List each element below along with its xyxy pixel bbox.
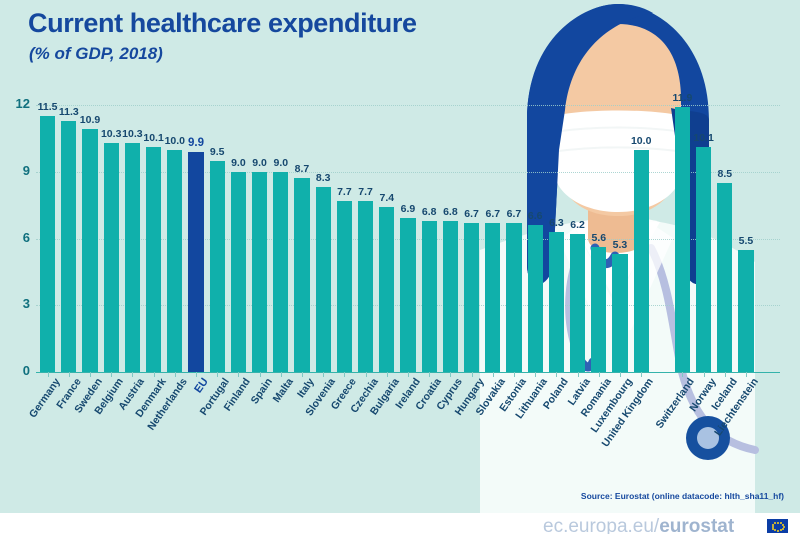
x-axis-tick <box>154 372 155 377</box>
bar-value-label: 6.3 <box>549 217 564 229</box>
bar-value-label: 8.3 <box>316 172 331 184</box>
x-axis-tick <box>344 372 345 377</box>
page-subtitle: (% of GDP, 2018) <box>29 44 163 64</box>
x-axis-tick <box>514 372 515 377</box>
bar: 9.0 <box>273 172 288 372</box>
x-axis-tick <box>746 372 747 377</box>
bar-value-label: 7.7 <box>358 186 373 198</box>
bar-value-label: 6.8 <box>422 206 437 218</box>
eu-flag-star <box>772 526 774 528</box>
x-axis-tick <box>260 372 261 377</box>
bar: 7.4 <box>379 207 394 372</box>
eu-flag-star <box>772 528 774 530</box>
bar-value-label: 8.7 <box>295 163 310 175</box>
x-axis-tick <box>132 372 133 377</box>
bar-value-label: 9.9 <box>188 137 204 149</box>
bar-value-label: 5.5 <box>739 235 754 247</box>
eu-flag-star <box>777 522 779 524</box>
bar-value-label: 11.3 <box>59 106 79 118</box>
bar-value-label: 10.0 <box>631 135 651 147</box>
x-axis-tick <box>493 372 494 377</box>
eu-flag-star <box>774 529 776 531</box>
x-axis-tick <box>599 372 600 377</box>
bar-value-label: 6.2 <box>570 219 585 231</box>
x-axis-label-malta: Malta <box>270 376 295 405</box>
x-axis-tick <box>238 372 239 377</box>
bar: 6.6 <box>528 225 543 372</box>
bar-value-label: 9.0 <box>273 157 288 169</box>
x-axis-label-spain: Spain <box>248 376 274 406</box>
x-axis-tick <box>90 372 91 377</box>
x-axis-tick <box>196 372 197 377</box>
bar-value-label: 7.4 <box>379 192 394 204</box>
bar-chart: 036912 11.511.310.910.310.310.110.09.99.… <box>0 0 800 534</box>
bar: 8.7 <box>294 178 309 372</box>
y-axis-tick-label: 12 <box>6 96 30 111</box>
bar: 6.7 <box>506 223 521 372</box>
x-axis-tick <box>111 372 112 377</box>
bar: 9.0 <box>231 172 246 372</box>
x-axis-tick <box>725 372 726 377</box>
x-axis-tick <box>175 372 176 377</box>
bar-value-label: 10.9 <box>80 114 100 126</box>
bar: 10.1 <box>696 147 711 372</box>
x-axis-tick <box>682 372 683 377</box>
bar: 6.2 <box>570 234 585 372</box>
x-axis-tick <box>323 372 324 377</box>
website-brand: eurostat <box>659 516 734 534</box>
x-axis-label-eu: EU <box>192 376 211 395</box>
bar-value-label: 7.7 <box>337 186 352 198</box>
x-axis-tick <box>302 372 303 377</box>
y-axis-tick-label: 9 <box>6 163 30 178</box>
x-axis-tick <box>450 372 451 377</box>
y-axis-tick-label: 3 <box>6 296 30 311</box>
page-title: Current healthcare expenditure <box>28 8 417 39</box>
x-axis-tick <box>641 372 642 377</box>
x-axis-tick <box>556 372 557 377</box>
x-axis-tick <box>217 372 218 377</box>
x-axis-tick <box>48 372 49 377</box>
x-axis-tick <box>704 372 705 377</box>
x-axis-tick <box>620 372 621 377</box>
gridline <box>36 105 780 106</box>
bar: 5.6 <box>591 247 606 372</box>
bar: 7.7 <box>358 201 373 372</box>
bar: 6.8 <box>443 221 458 372</box>
bar: 11.3 <box>61 121 76 372</box>
bar-value-label: 5.6 <box>591 232 606 244</box>
infographic-root: Current healthcare expenditure (% of GDP… <box>0 0 800 534</box>
x-axis-tick <box>472 372 473 377</box>
eu-flag-star <box>777 530 779 532</box>
bar-value-label: 9.0 <box>231 157 246 169</box>
bar-value-label: 6.8 <box>443 206 458 218</box>
x-axis-tick <box>429 372 430 377</box>
bar: 5.5 <box>738 250 753 372</box>
eu-flag-icon <box>767 519 788 533</box>
eu-flag-star <box>774 522 776 524</box>
bar-value-label: 10.1 <box>143 132 163 144</box>
bar: 8.5 <box>717 183 732 372</box>
bar: 6.7 <box>464 223 479 372</box>
bar: 10.3 <box>104 143 119 372</box>
bar-value-label: 6.9 <box>401 203 416 215</box>
bar-value-label: 6.7 <box>464 208 479 220</box>
bar-value-label: 10.0 <box>165 135 185 147</box>
x-axis-tick <box>69 372 70 377</box>
bar-value-label: 6.6 <box>528 210 543 222</box>
bar-value-label: 11.9 <box>672 92 692 104</box>
bar: 10.3 <box>125 143 140 372</box>
bar: 10.9 <box>82 129 97 372</box>
x-axis-tick <box>408 372 409 377</box>
bar: 6.8 <box>422 221 437 372</box>
bar-value-label: 10.3 <box>101 128 121 140</box>
bar: 9.0 <box>252 172 267 372</box>
source-note: Source: Eurostat (online datacode: hlth_… <box>581 491 784 501</box>
bar-value-label: 6.7 <box>507 208 522 220</box>
eurostat-website-label: ec.europa.eu/eurostat <box>543 516 734 534</box>
bar: 5.3 <box>612 254 627 372</box>
y-axis-tick-label: 0 <box>6 363 30 378</box>
eu-flag-star <box>780 529 782 531</box>
bar-value-label: 9.0 <box>252 157 267 169</box>
bar: 10.0 <box>167 150 182 373</box>
bar-value-label: 5.3 <box>613 239 628 251</box>
bar: 6.3 <box>549 232 564 372</box>
bar: 8.3 <box>316 187 331 372</box>
x-axis-tick <box>366 372 367 377</box>
bar: 9.5 <box>210 161 225 372</box>
bar-value-label: 8.5 <box>717 168 732 180</box>
bar-value-label: 10.3 <box>122 128 142 140</box>
bar: 6.9 <box>400 218 415 372</box>
bar-value-label: 10.1 <box>693 132 713 144</box>
bar: 10.0 <box>634 150 649 373</box>
x-axis-tick <box>535 372 536 377</box>
x-axis-tick <box>281 372 282 377</box>
bar: 7.7 <box>337 201 352 372</box>
bar: 10.1 <box>146 147 161 372</box>
bar: 6.7 <box>485 223 500 372</box>
website-prefix: ec.europa.eu/ <box>543 516 659 534</box>
bar: 11.9 <box>675 107 690 372</box>
bar-value-label: 6.7 <box>485 208 500 220</box>
eu-flag-star <box>782 528 784 530</box>
x-axis-tick <box>387 372 388 377</box>
x-axis-tick <box>578 372 579 377</box>
bar-value-label: 11.5 <box>38 101 58 113</box>
bar-eu-highlight: 9.9 <box>188 152 203 372</box>
bar: 11.5 <box>40 116 55 372</box>
y-axis-tick-label: 6 <box>6 230 30 245</box>
bar-value-label: 9.5 <box>210 146 225 158</box>
